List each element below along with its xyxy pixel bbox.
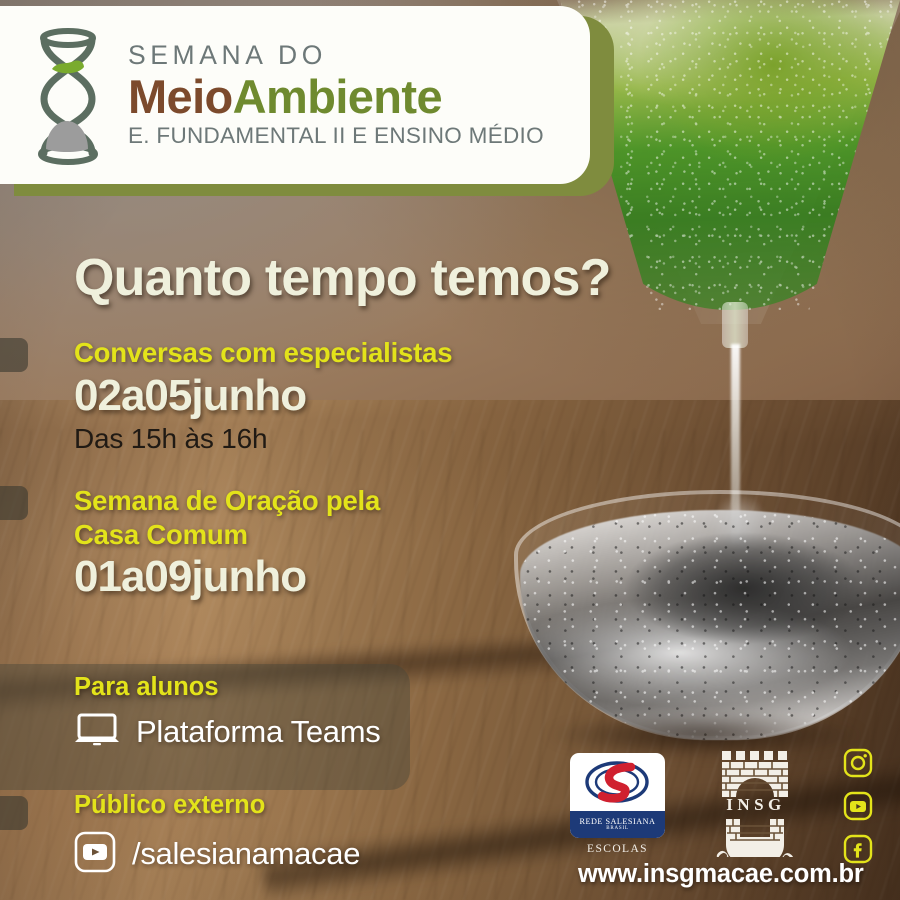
instagram-icon[interactable] xyxy=(843,748,873,778)
side-tab-marker-1 xyxy=(0,338,28,372)
event-block-1: Conversas com especialistas 02a05junho D… xyxy=(74,336,452,456)
rede-salesiana-logo: REDE SALESIANA BRASIL ESCOLAS xyxy=(570,753,665,855)
event-2-title-line1: Semana de Oração pela xyxy=(74,484,380,518)
event-1-time: Das 15h às 16h xyxy=(74,422,452,456)
audience-1-label: Para alunos xyxy=(74,672,380,703)
event-2-title-line2: Casa Comum xyxy=(74,518,380,552)
website-url[interactable]: www.insgmacae.com.br xyxy=(578,860,864,889)
insg-castelo-logo: INSG CASTELO xyxy=(700,745,812,857)
event-1-title: Conversas com especialistas xyxy=(74,336,452,370)
page-title: Quanto tempo temos? xyxy=(74,248,611,308)
side-tab-marker-2 xyxy=(0,486,28,520)
social-icons xyxy=(843,748,873,864)
audience-block-external: Público externo /salesianamacae xyxy=(74,790,360,878)
rede-salesiana-band-line1: REDE SALESIANA xyxy=(580,818,656,827)
rede-salesiana-card: REDE SALESIANA BRASIL xyxy=(570,753,665,838)
poster-content: Quanto tempo temos? Conversas com especi… xyxy=(0,0,900,900)
rede-salesiana-band-line2: BRASIL xyxy=(606,826,629,831)
audience-block-students: Para alunos Plataforma Teams xyxy=(74,672,380,752)
audience-1-row: Plataforma Teams xyxy=(74,713,380,752)
event-block-2: Semana de Oração pela Casa Comum 01a09ju… xyxy=(74,484,380,601)
audience-2-value: /salesianamacae xyxy=(132,836,360,872)
youtube-icon[interactable] xyxy=(843,791,873,821)
audience-2-label: Público externo xyxy=(74,790,360,821)
insg-text: INSG xyxy=(726,795,786,814)
youtube-icon[interactable] xyxy=(74,831,116,878)
rede-salesiana-band: REDE SALESIANA BRASIL xyxy=(570,811,665,838)
event-1-date: 02a05junho xyxy=(74,372,452,420)
laptop-icon xyxy=(74,713,120,752)
poster-root: SEMANA DO MeioAmbiente E. FUNDAMENTAL II… xyxy=(0,0,900,900)
rede-salesiana-caption: ESCOLAS xyxy=(570,843,665,855)
audience-2-row: /salesianamacae xyxy=(74,831,360,878)
event-2-date: 01a09junho xyxy=(74,553,380,601)
side-tab-marker-3 xyxy=(0,796,28,830)
audience-1-value: Plataforma Teams xyxy=(136,714,380,750)
